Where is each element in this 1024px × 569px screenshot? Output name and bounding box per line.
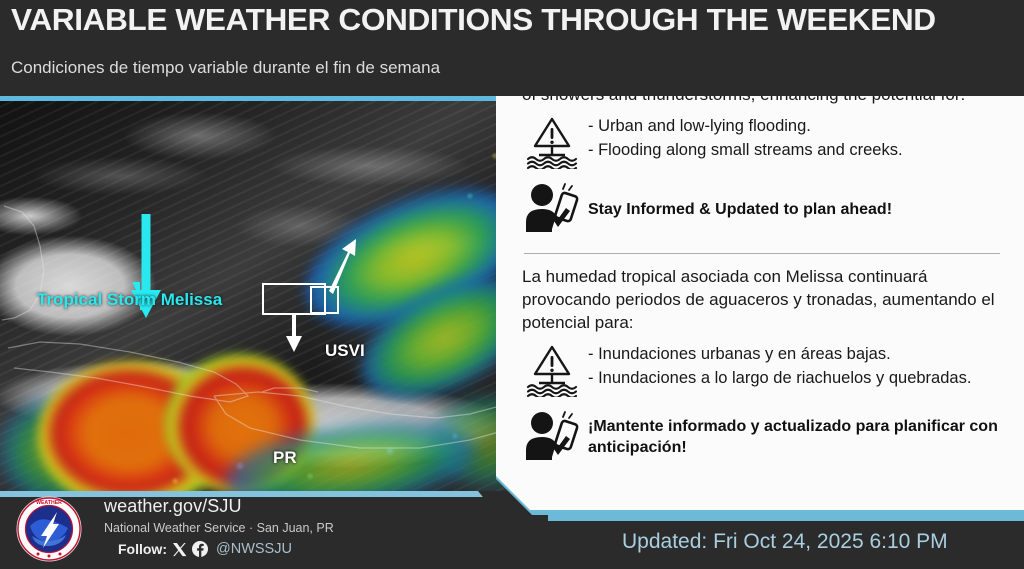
english-cta-text: Stay Informed & Updated to plan ahead! [588, 200, 892, 221]
section-divider [524, 253, 1000, 254]
nws-seal-icon: WEATHER [16, 496, 82, 567]
person-with-phone-icon [522, 410, 588, 467]
updated-timestamp: Updated: Fri Oct 24, 2025 6:10 PM [622, 530, 948, 554]
page-title: VARIABLE WEATHER CONDITIONS THROUGH THE … [11, 2, 936, 38]
flood-warning-icon [522, 339, 588, 402]
facebook-icon[interactable] [192, 541, 208, 557]
footer-info: weather.gov/SJU National Weather Service… [104, 496, 334, 557]
bullet-item: - Urban and low-lying flooding. [588, 115, 903, 139]
bullet-item: - Flooding along small streams and creek… [588, 139, 903, 163]
svg-text:WEATHER: WEATHER [36, 500, 62, 506]
bullet-item: - Inundaciones a lo largo de riachuelos … [588, 367, 971, 391]
spanish-cta-text: ¡Mantente informado y actualizado para p… [588, 417, 1002, 459]
usvi-label: USVI [325, 341, 365, 361]
satellite-map: Tropical Storm Melissa USVI PR [0, 96, 512, 491]
social-handle[interactable]: @NWSSJU [216, 541, 292, 557]
header-bar: VARIABLE WEATHER CONDITIONS THROUGH THE … [0, 0, 1024, 96]
follow-row: Follow: @NWSSJU [104, 541, 334, 557]
website-link[interactable]: weather.gov/SJU [104, 496, 334, 517]
pr-label: PR [273, 448, 297, 468]
spanish-paragraph: La humedad tropical asociada con Melissa… [522, 266, 1002, 335]
office-name: National Weather Service · San Juan, PR [104, 521, 334, 535]
annotation-arrows [0, 96, 512, 491]
spanish-cta-row: ¡Mantente informado y actualizado para p… [522, 410, 1002, 467]
pr-arrow-icon [286, 315, 302, 352]
page-subtitle: Condiciones de tiempo variable durante e… [11, 58, 440, 78]
spanish-bullet-row: - Inundaciones urbanas y en áreas bajas.… [522, 339, 1002, 402]
spanish-section: La humedad tropical asociada con Melissa… [522, 266, 1002, 467]
footer-accent-right [512, 515, 1024, 521]
person-with-phone-icon [522, 182, 588, 239]
usvi-arrow-icon [329, 239, 356, 294]
bullet-item: - Inundaciones urbanas y en áreas bajas. [588, 343, 971, 367]
x-twitter-icon[interactable] [172, 542, 187, 557]
english-bullet-row: - Urban and low-lying flooding. - Floodi… [522, 111, 1002, 174]
map-top-accent-bar [0, 96, 512, 101]
english-bullets: - Urban and low-lying flooding. - Floodi… [588, 111, 903, 163]
flood-warning-icon [522, 111, 588, 174]
spanish-bullets: - Inundaciones urbanas y en áreas bajas.… [588, 339, 971, 391]
follow-label: Follow: [118, 541, 167, 557]
english-cta-row: Stay Informed & Updated to plan ahead! [522, 182, 1002, 239]
info-panel: Tropical moisture from Melissa will cont… [496, 49, 1024, 515]
